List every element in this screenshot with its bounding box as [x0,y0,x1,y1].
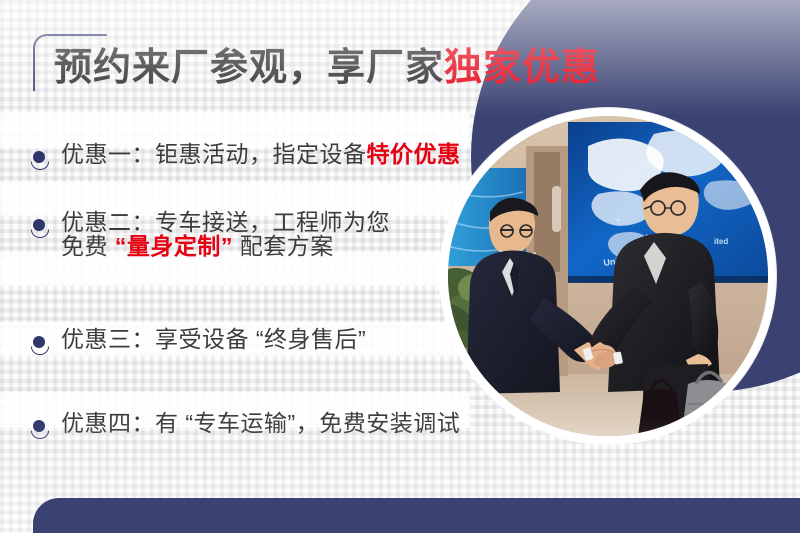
circle-arc-bullet-icon [30,218,50,238]
handshake-photo-illustration: United ited [448,116,768,436]
list-item-line: 优惠一：钜惠活动，指定设备特价优惠 [61,141,461,167]
page-title: 预约来厂参观，享厂家独家优惠 [54,49,600,87]
list-item-lines: 优惠四：有 “专车运输”，免费安装调试 [61,412,460,436]
list-item-lines: 优惠三：享受设备 “终身售后” [61,328,366,352]
line-text-plain: 免费 [61,233,115,259]
list-item-line: 优惠二：专车接送，工程师为您 [61,209,390,235]
photo-circle-frame: United ited [440,108,776,444]
list-item-line: 免费 “量身定制” 配套方案 [61,233,334,259]
list-item: 优惠四：有 “专车运输”，免费安装调试 [30,412,460,439]
bottom-navy-bar [33,498,800,533]
list-item-lines: 优惠一：钜惠活动，指定设备特价优惠 [61,143,461,167]
promo-banner: 预约来厂参观，享厂家独家优惠 优惠一：钜惠活动，指定设备特价优惠 优惠二：专车接… [0,0,800,533]
list-item: 优惠二：专车接送，工程师为您 免费 “量身定制” 配套方案 [30,211,390,259]
list-item: 优惠一：钜惠活动，指定设备特价优惠 [30,143,461,170]
circle-arc-bullet-icon [30,419,50,439]
list-item-lines: 优惠二：专车接送，工程师为您 免费 “量身定制” 配套方案 [61,211,390,259]
line-text-plain: 优惠二：专车接送，工程师为您 [61,209,390,235]
line-text-plain: 优惠四：有 “专车运输”，免费安装调试 [61,410,460,436]
page-title-highlight: 独家优惠 [444,47,600,89]
list-item-line: 优惠四：有 “专车运输”，免费安装调试 [61,410,460,436]
line-text-highlight: “量身定制” [115,233,233,259]
line-text-highlight: 特价优惠 [367,141,461,167]
circle-arc-bullet-icon [30,335,50,355]
line-text-plain: 优惠一：钜惠活动，指定设备 [61,141,367,167]
handshake-photo: United ited [448,116,768,436]
list-item-line: 优惠三：享受设备 “终身售后” [61,326,366,352]
line-text-plain: 优惠三：享受设备 “终身售后” [61,326,366,352]
svg-text:ited: ited [714,237,728,246]
page-title-plain: 预约来厂参观，享厂家 [54,47,444,89]
circle-arc-bullet-icon [30,150,50,170]
line-text-tail: 配套方案 [233,233,334,259]
list-item: 优惠三：享受设备 “终身售后” [30,328,366,355]
